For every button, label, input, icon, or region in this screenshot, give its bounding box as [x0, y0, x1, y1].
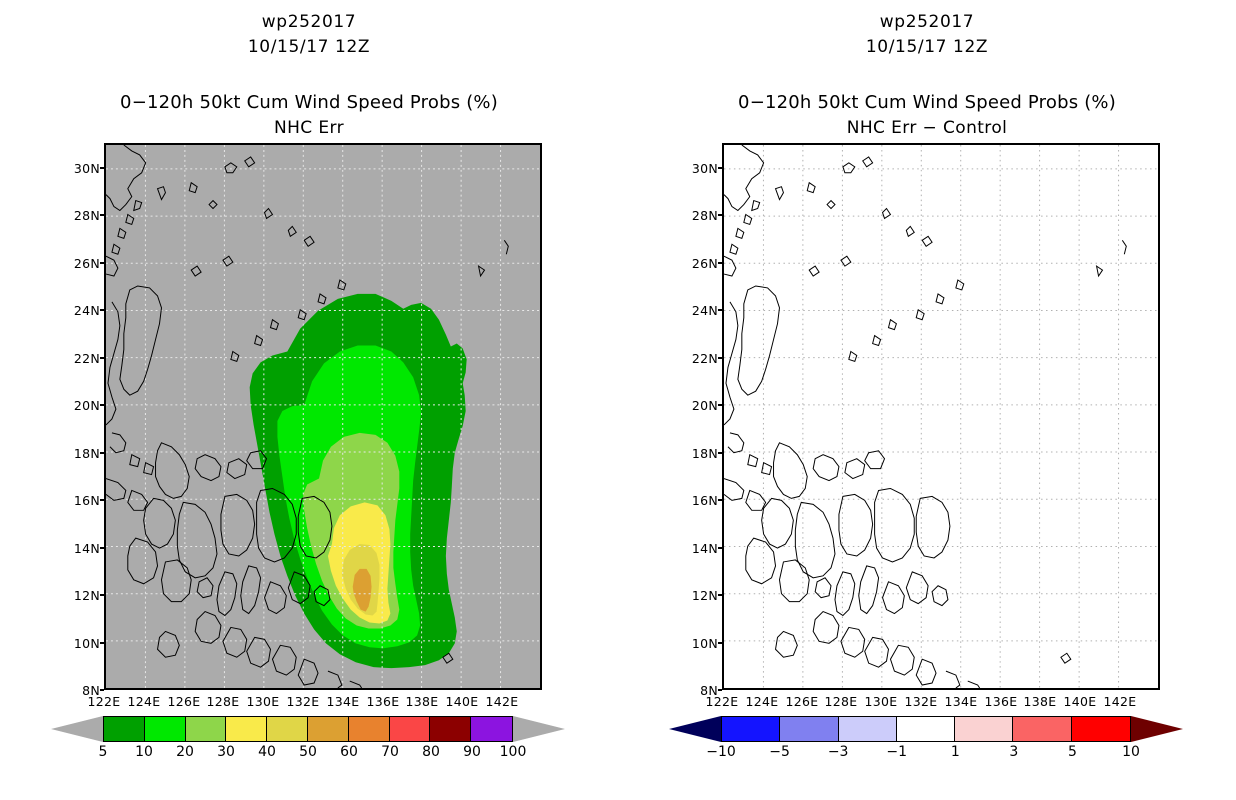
- valid-datetime-right: 10/15/17 12Z: [618, 37, 1236, 57]
- colorbar-over-arrow-left: [513, 716, 565, 742]
- colorbar-tick-label: 70: [370, 744, 410, 760]
- colorbar-swatch[interactable]: [722, 717, 780, 741]
- colorbar-swatch[interactable]: [780, 717, 838, 741]
- colorbar-tick-label: 30: [206, 744, 246, 760]
- colorbar-swatch[interactable]: [430, 717, 471, 741]
- panel-subtitle-right: NHC Err − Control: [618, 118, 1236, 138]
- colorbar-over-arrow-right: [1131, 716, 1183, 742]
- colorbar-swatch[interactable]: [267, 717, 308, 741]
- storm-id-left: wp252017: [0, 12, 618, 32]
- colorbar-tick-label: 1: [935, 744, 975, 760]
- colorbar-tick-label: 10: [1111, 744, 1151, 760]
- storm-id-right: wp252017: [618, 12, 1236, 32]
- colorbar-tick-label: −10: [701, 744, 741, 760]
- panel-title-left: 0−120h 50kt Cum Wind Speed Probs (%): [0, 92, 618, 113]
- colorbar-swatch[interactable]: [226, 717, 267, 741]
- colorbar-tick-label: 90: [452, 744, 492, 760]
- colorbar-swatch[interactable]: [471, 717, 512, 741]
- colorbar-swatch[interactable]: [308, 717, 349, 741]
- panel-title-right: 0−120h 50kt Cum Wind Speed Probs (%): [618, 92, 1236, 113]
- colorbar-swatch[interactable]: [104, 717, 145, 741]
- panel-nhc-err: wp252017 10/15/17 12Z 0−120h 50kt Cum Wi…: [0, 0, 618, 800]
- colorbar-swatch[interactable]: [349, 717, 390, 741]
- colorbar-swatch[interactable]: [1013, 717, 1071, 741]
- colorbar-right[interactable]: −10−5−3−113510: [721, 716, 1131, 742]
- colorbar-swatch[interactable]: [390, 717, 431, 741]
- colorbar-tick-label: 40: [247, 744, 287, 760]
- colorbar-tick-label: 10: [124, 744, 164, 760]
- panel-subtitle-left: NHC Err: [0, 118, 618, 138]
- colorbar-tick-label: 3: [994, 744, 1034, 760]
- colorbar-under-arrow-right: [669, 716, 721, 742]
- valid-datetime-left: 10/15/17 12Z: [0, 37, 618, 57]
- colorbar-tick-label: 5: [83, 744, 123, 760]
- colorbar-swatch[interactable]: [145, 717, 186, 741]
- coastlines-right: [724, 145, 1158, 688]
- forecast-probability-figure: wp252017 10/15/17 12Z 0−120h 50kt Cum Wi…: [0, 0, 1236, 800]
- coastlines-left: [106, 145, 540, 688]
- colorbar-swatch[interactable]: [897, 717, 955, 741]
- colorbar-tick-label: 5: [1052, 744, 1092, 760]
- colorbar-swatch[interactable]: [955, 717, 1013, 741]
- colorbar-tick-label: −5: [760, 744, 800, 760]
- colorbar-tick-label: 80: [411, 744, 451, 760]
- colorbar-tick-label: 100: [493, 744, 533, 760]
- colorbar-under-arrow-left: [51, 716, 103, 742]
- colorbar-tick-label: −1: [877, 744, 917, 760]
- colorbar-swatch[interactable]: [1072, 717, 1130, 741]
- map-plot-right[interactable]: [722, 143, 1160, 690]
- colorbar-tick-label: −3: [818, 744, 858, 760]
- colorbar-tick-label: 50: [288, 744, 328, 760]
- colorbar-swatch[interactable]: [839, 717, 897, 741]
- colorbar-tick-label: 60: [329, 744, 369, 760]
- panel-nhc-err-control: wp252017 10/15/17 12Z 0−120h 50kt Cum Wi…: [618, 0, 1236, 800]
- colorbar-swatch[interactable]: [186, 717, 227, 741]
- map-plot-left[interactable]: [104, 143, 542, 690]
- colorbar-tick-label: 20: [165, 744, 205, 760]
- colorbar-left[interactable]: 5102030405060708090100: [103, 716, 513, 742]
